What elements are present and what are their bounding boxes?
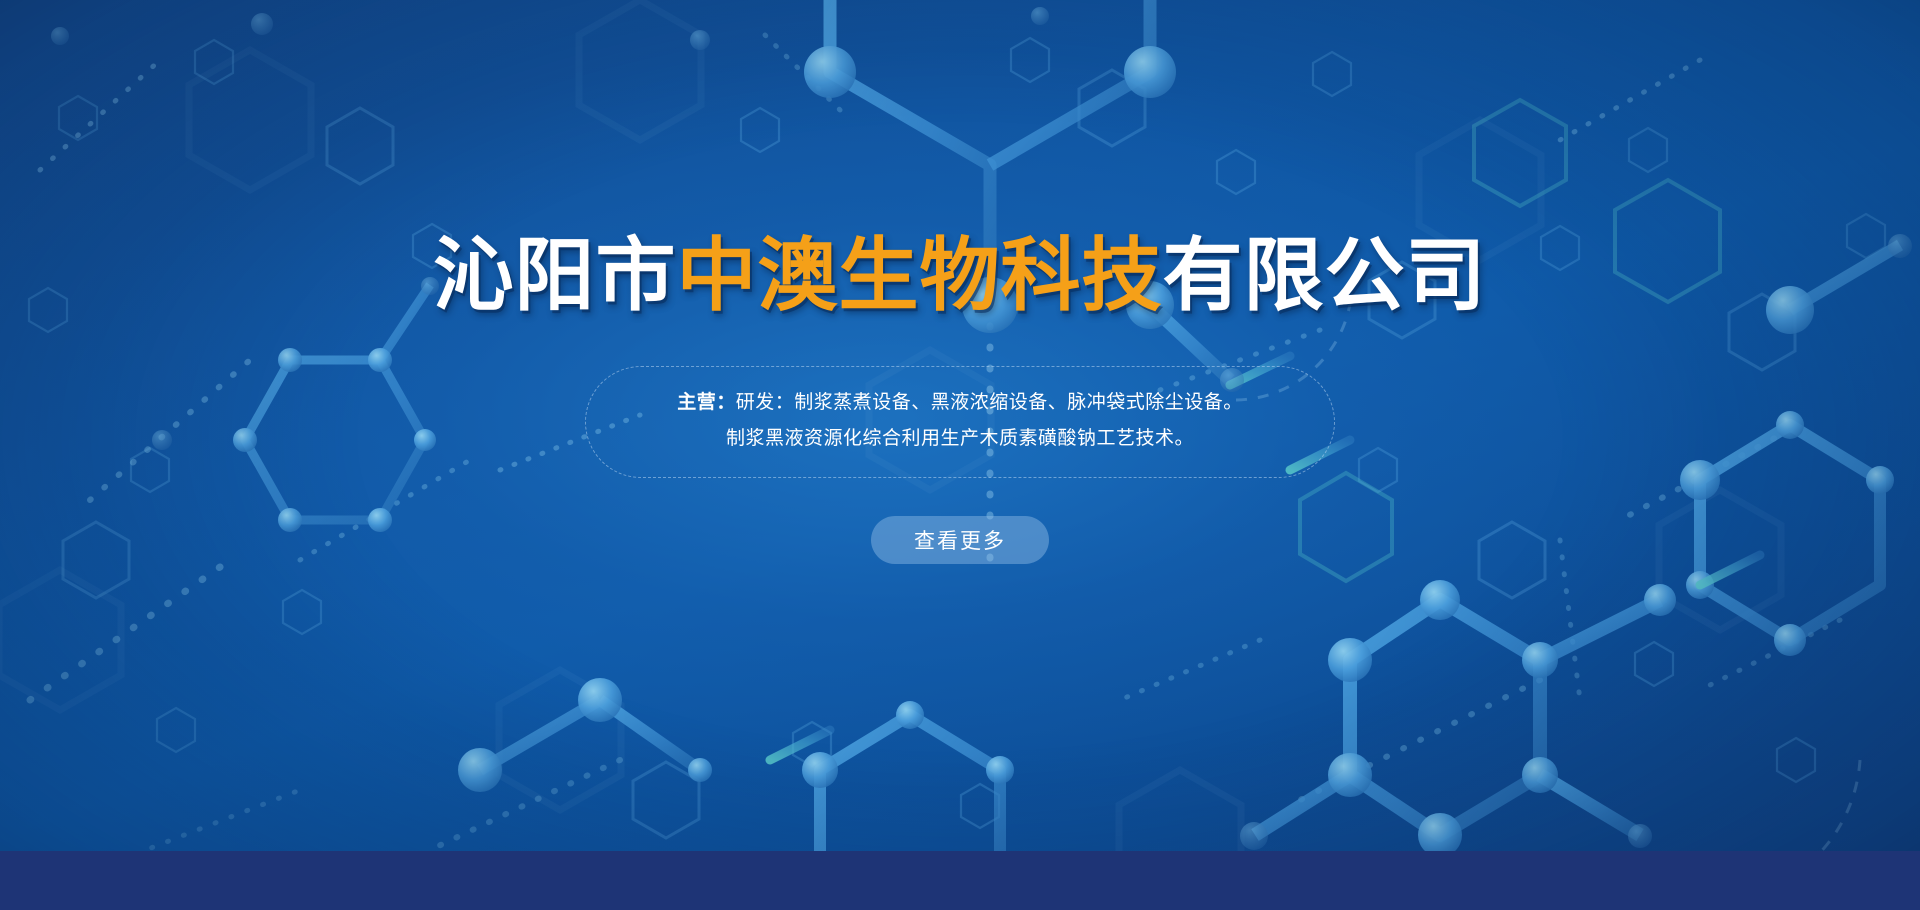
- title-suffix: 有限公司: [1163, 229, 1487, 322]
- hero-content: 沁阳市中澳生物科技有限公司 主营：研发：制浆蒸煮设备、黑液浓缩设备、脉冲袋式除尘…: [0, 0, 1920, 851]
- subtitle-line-1-rest: 研发：制浆蒸煮设备、黑液浓缩设备、脉冲袋式除尘设备。: [736, 392, 1243, 413]
- subtitle-lead: 主营：: [677, 392, 736, 413]
- subtitle-line-1: 主营：研发：制浆蒸煮设备、黑液浓缩设备、脉冲袋式除尘设备。: [630, 385, 1290, 421]
- subtitle-box: 主营：研发：制浆蒸煮设备、黑液浓缩设备、脉冲袋式除尘设备。 制浆黑液资源化综合利…: [585, 366, 1335, 478]
- title-highlight: 中澳生物科技: [677, 229, 1163, 322]
- page-title: 沁阳市中澳生物科技有限公司: [434, 236, 1487, 316]
- view-more-button[interactable]: 查看更多: [871, 516, 1049, 564]
- hero-banner: 沁阳市中澳生物科技有限公司 主营：研发：制浆蒸煮设备、黑液浓缩设备、脉冲袋式除尘…: [0, 0, 1920, 910]
- subtitle-line-2: 制浆黑液资源化综合利用生产木质素磺酸钠工艺技术。: [630, 421, 1290, 457]
- title-prefix: 沁阳市: [434, 229, 677, 322]
- footer-band: [0, 851, 1920, 910]
